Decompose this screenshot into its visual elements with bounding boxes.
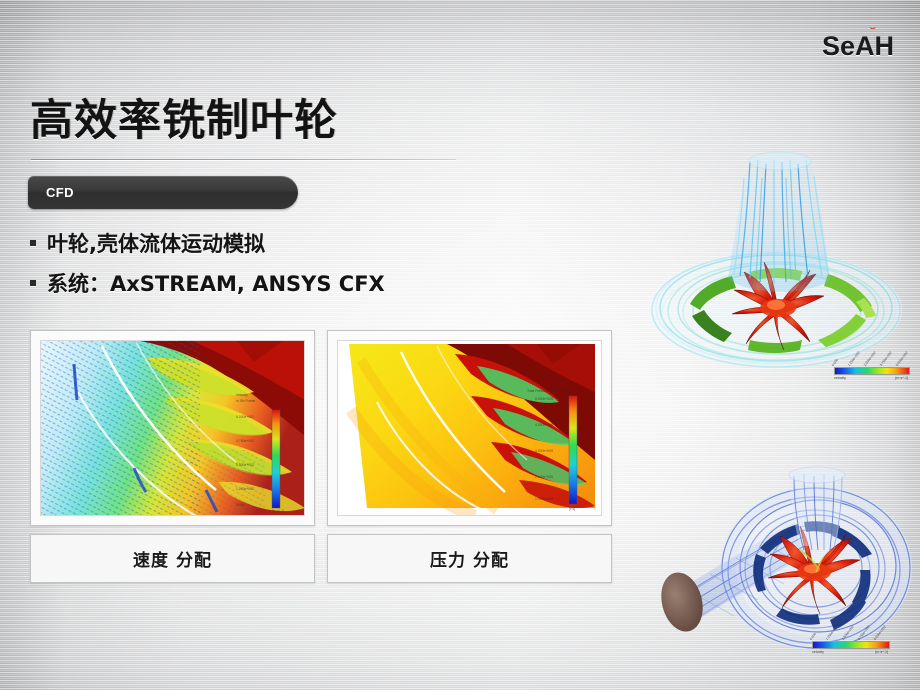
impeller-render-colorbar: 0.000 1.250e+002 2.500e+002 3.750e+002 5…: [834, 358, 908, 380]
svg-text:2.500e+002: 2.500e+002: [236, 463, 254, 467]
seah-logo: SeˇAH: [822, 33, 894, 60]
colorbar-footer: velocity [m s^-1]: [834, 376, 908, 380]
colorbar-label: velocity: [812, 650, 824, 654]
volute-streamlines-render: 0.000 1.250e+002 2.500e+002 3.750e+002 5…: [648, 450, 920, 670]
bullet-list: 叶轮,壳体流体运动模拟 系统：AxSTREAM, ANSYS CFX: [30, 228, 550, 308]
svg-text:[m s^-1]: [m s^-1]: [272, 509, 284, 513]
colorbar-footer: velocity [m s^-1]: [812, 650, 888, 654]
title-divider: [31, 159, 456, 160]
page-title: 高效率铣制叶轮: [30, 100, 338, 143]
svg-text:[Pa]: [Pa]: [569, 507, 575, 511]
list-item: 系统：AxSTREAM, ANSYS CFX: [30, 268, 550, 298]
list-item: 叶轮,壳体流体运动模拟: [30, 228, 550, 258]
bullet-text: 系统：AxSTREAM, ANSYS CFX: [47, 268, 385, 298]
velocity-caption-box: 速度 分配: [30, 534, 315, 583]
bullet-square-icon: [30, 240, 36, 246]
slide-canvas: SeˇAH 高效率铣制叶轮 CFD 叶轮,壳体流体运动模拟 系统：AxSTREA…: [0, 0, 920, 690]
colorbar-label: velocity: [834, 376, 846, 380]
bullet-square-icon: [30, 280, 36, 286]
svg-text:6.000e+005: 6.000e+005: [535, 397, 553, 401]
pressure-caption-box: 压力 分配: [327, 534, 612, 583]
svg-text:in Stn Frame: in Stn Frame: [236, 399, 256, 403]
bullet-text: 叶轮,壳体流体运动模拟: [47, 228, 265, 258]
colorbar-gradient: [834, 367, 910, 375]
logo-text-e: eˇ: [840, 31, 855, 61]
svg-text:Total Pressure in Stn Frame: Total Pressure in Stn Frame: [527, 389, 569, 393]
velocity-caption: 速度 分配: [133, 546, 212, 571]
svg-text:3.750e+002: 3.750e+002: [236, 439, 254, 443]
svg-text:2.000e+005: 2.000e+005: [535, 475, 553, 479]
velocity-contour-figure: Velocity in Stn Frame 5.000e+002 3.750e+…: [40, 340, 305, 516]
svg-text:0.000: 0.000: [236, 503, 245, 507]
impeller-render-svg: [632, 148, 920, 383]
svg-text:5.000e+002: 5.000e+002: [236, 415, 254, 419]
svg-text:3.000e+005: 3.000e+005: [535, 449, 553, 453]
velocity-panel: Velocity in Stn Frame 5.000e+002 3.750e+…: [30, 330, 315, 585]
svg-text:1.250e+002: 1.250e+002: [236, 487, 254, 491]
svg-text:1.000e+005: 1.000e+005: [535, 497, 553, 501]
velocity-contour-svg: Velocity in Stn Frame 5.000e+002 3.750e+…: [40, 340, 305, 516]
colorbar-tick-labels: 0.000 1.250e+002 2.500e+002 3.750e+002 5…: [834, 358, 908, 367]
velocity-figure-box: Velocity in Stn Frame 5.000e+002 3.750e+…: [30, 330, 315, 526]
colorbar-gradient: [812, 641, 890, 649]
logo-text-s: S: [822, 31, 840, 61]
colorbar-units: [m s^-1]: [875, 650, 888, 654]
section-tag-cfd: CFD: [28, 176, 298, 209]
pressure-panel: Total Pressure in Stn Frame 6.000e+005 4…: [327, 330, 612, 585]
svg-text:4.000e+005: 4.000e+005: [535, 423, 553, 427]
pressure-contour-svg: Total Pressure in Stn Frame 6.000e+005 4…: [337, 340, 602, 516]
colorbar-units: [m s^-1]: [895, 376, 908, 380]
svg-text:Velocity: Velocity: [236, 393, 248, 397]
impeller-streamlines-render: 0.000 1.250e+002 2.500e+002 3.750e+002 5…: [632, 148, 920, 383]
pressure-figure-box: Total Pressure in Stn Frame 6.000e+005 4…: [327, 330, 612, 526]
volute-render-colorbar: 0.000 1.250e+002 2.500e+002 3.750e+002 5…: [812, 632, 888, 654]
colorbar-tick-labels: 0.000 1.250e+002 2.500e+002 3.750e+002 5…: [812, 632, 888, 641]
section-tag-label: CFD: [46, 185, 74, 200]
pressure-contour-figure: Total Pressure in Stn Frame 6.000e+005 4…: [337, 340, 602, 516]
logo-caron-icon: ˇ: [869, 27, 875, 36]
pressure-caption: 压力 分配: [430, 546, 509, 571]
